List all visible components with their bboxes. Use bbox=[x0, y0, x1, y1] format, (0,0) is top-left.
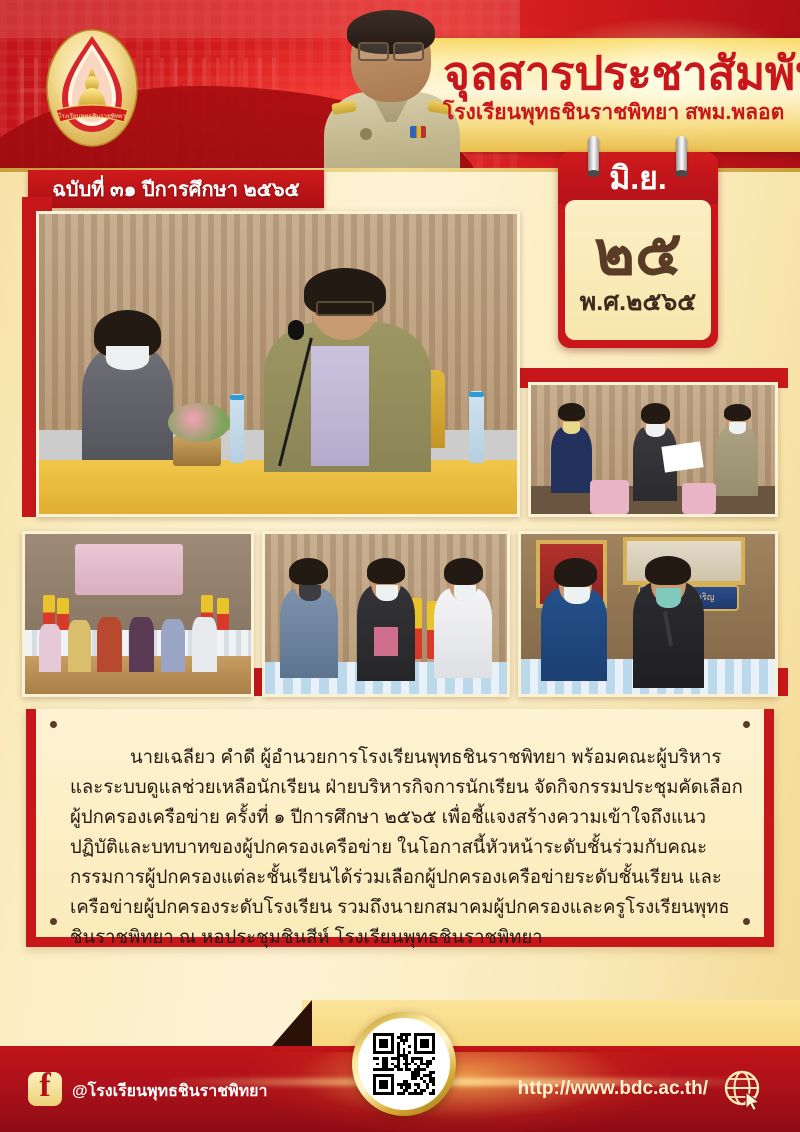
header-title-block: จุลสารประชาสัมพันธ์ โรงเรียนพุทธชินราชพิ… bbox=[443, 48, 800, 148]
calendar-day: ๒๕ bbox=[594, 223, 682, 285]
svg-text:โรงเรียนพุทธชินราชพิทยา: โรงเรียนพุทธชินราชพิทยา bbox=[58, 112, 125, 120]
qr-code[interactable] bbox=[352, 1012, 456, 1116]
calendar-month: มิ.ย. bbox=[609, 162, 667, 194]
article-text-card: นายเฉลียว คำดี ผู้อำนวยการโรงเรียนพุทธชิ… bbox=[26, 709, 774, 947]
facebook-icon[interactable] bbox=[28, 1072, 62, 1106]
corner-dot-top-left bbox=[50, 721, 57, 728]
calendar-ring-cap-right bbox=[675, 170, 688, 177]
issue-ribbon: ฉบับที่ ๓๑ ปีการศึกษา ๒๕๖๕ bbox=[28, 170, 324, 208]
page-title: จุลสารประชาสัมพันธ์ bbox=[443, 48, 800, 98]
corner-dot-top-right bbox=[743, 721, 750, 728]
calendar-body: มิ.ย. ๒๕ พ.ศ.๒๕๖๕ bbox=[558, 152, 718, 348]
director-ribbon-badge bbox=[410, 126, 426, 138]
photo-parent-reading-statement bbox=[528, 382, 778, 517]
calendar-ring-left bbox=[588, 136, 599, 174]
globe-cursor-icon[interactable] bbox=[722, 1068, 766, 1112]
director-glasses bbox=[358, 42, 424, 57]
article-body-text: นายเฉลียว คำดี ผู้อำนวยการโรงเรียนพุทธชิ… bbox=[70, 742, 746, 952]
photo-speaker-with-microphone: ทรงพระเจริญ bbox=[518, 531, 778, 697]
calendar-year: พ.ศ.๒๕๖๕ bbox=[580, 287, 696, 317]
facebook-handle[interactable]: @โรงเรียนพุทธชินราชพิทยา bbox=[72, 1079, 268, 1104]
calendar-header: มิ.ย. bbox=[558, 152, 718, 204]
calendar-sheet: ๒๕ พ.ศ.๒๕๖๕ bbox=[565, 200, 711, 340]
photo-parents-applauding bbox=[262, 531, 510, 697]
qr-code-matrix bbox=[373, 1033, 435, 1095]
issue-label: ฉบับที่ ๓๑ ปีการศึกษา ๒๕๖๕ bbox=[52, 173, 299, 205]
date-calendar: มิ.ย. ๒๕ พ.ศ.๒๕๖๕ bbox=[552, 136, 748, 358]
director-name-tag bbox=[360, 128, 372, 140]
page-subtitle: โรงเรียนพุทธชินราชพิทยา สพม.พลอต bbox=[443, 100, 800, 126]
photo-main-director-speaking bbox=[36, 211, 520, 517]
newsletter-poster: โรงเรียนพุทธชินราชพิทยา จุลสารประชาสัมพั… bbox=[0, 0, 800, 1132]
website-url[interactable]: http://www.bdc.ac.th/ bbox=[518, 1078, 708, 1100]
photo-group-on-stage bbox=[22, 531, 254, 697]
calendar-ring-right bbox=[676, 136, 687, 174]
school-emblem-buddha-logo: โรงเรียนพุทธชินราชพิทยา bbox=[40, 26, 144, 154]
calendar-ring-cap-left bbox=[587, 170, 600, 177]
corner-dot-bottom-left bbox=[50, 918, 57, 925]
